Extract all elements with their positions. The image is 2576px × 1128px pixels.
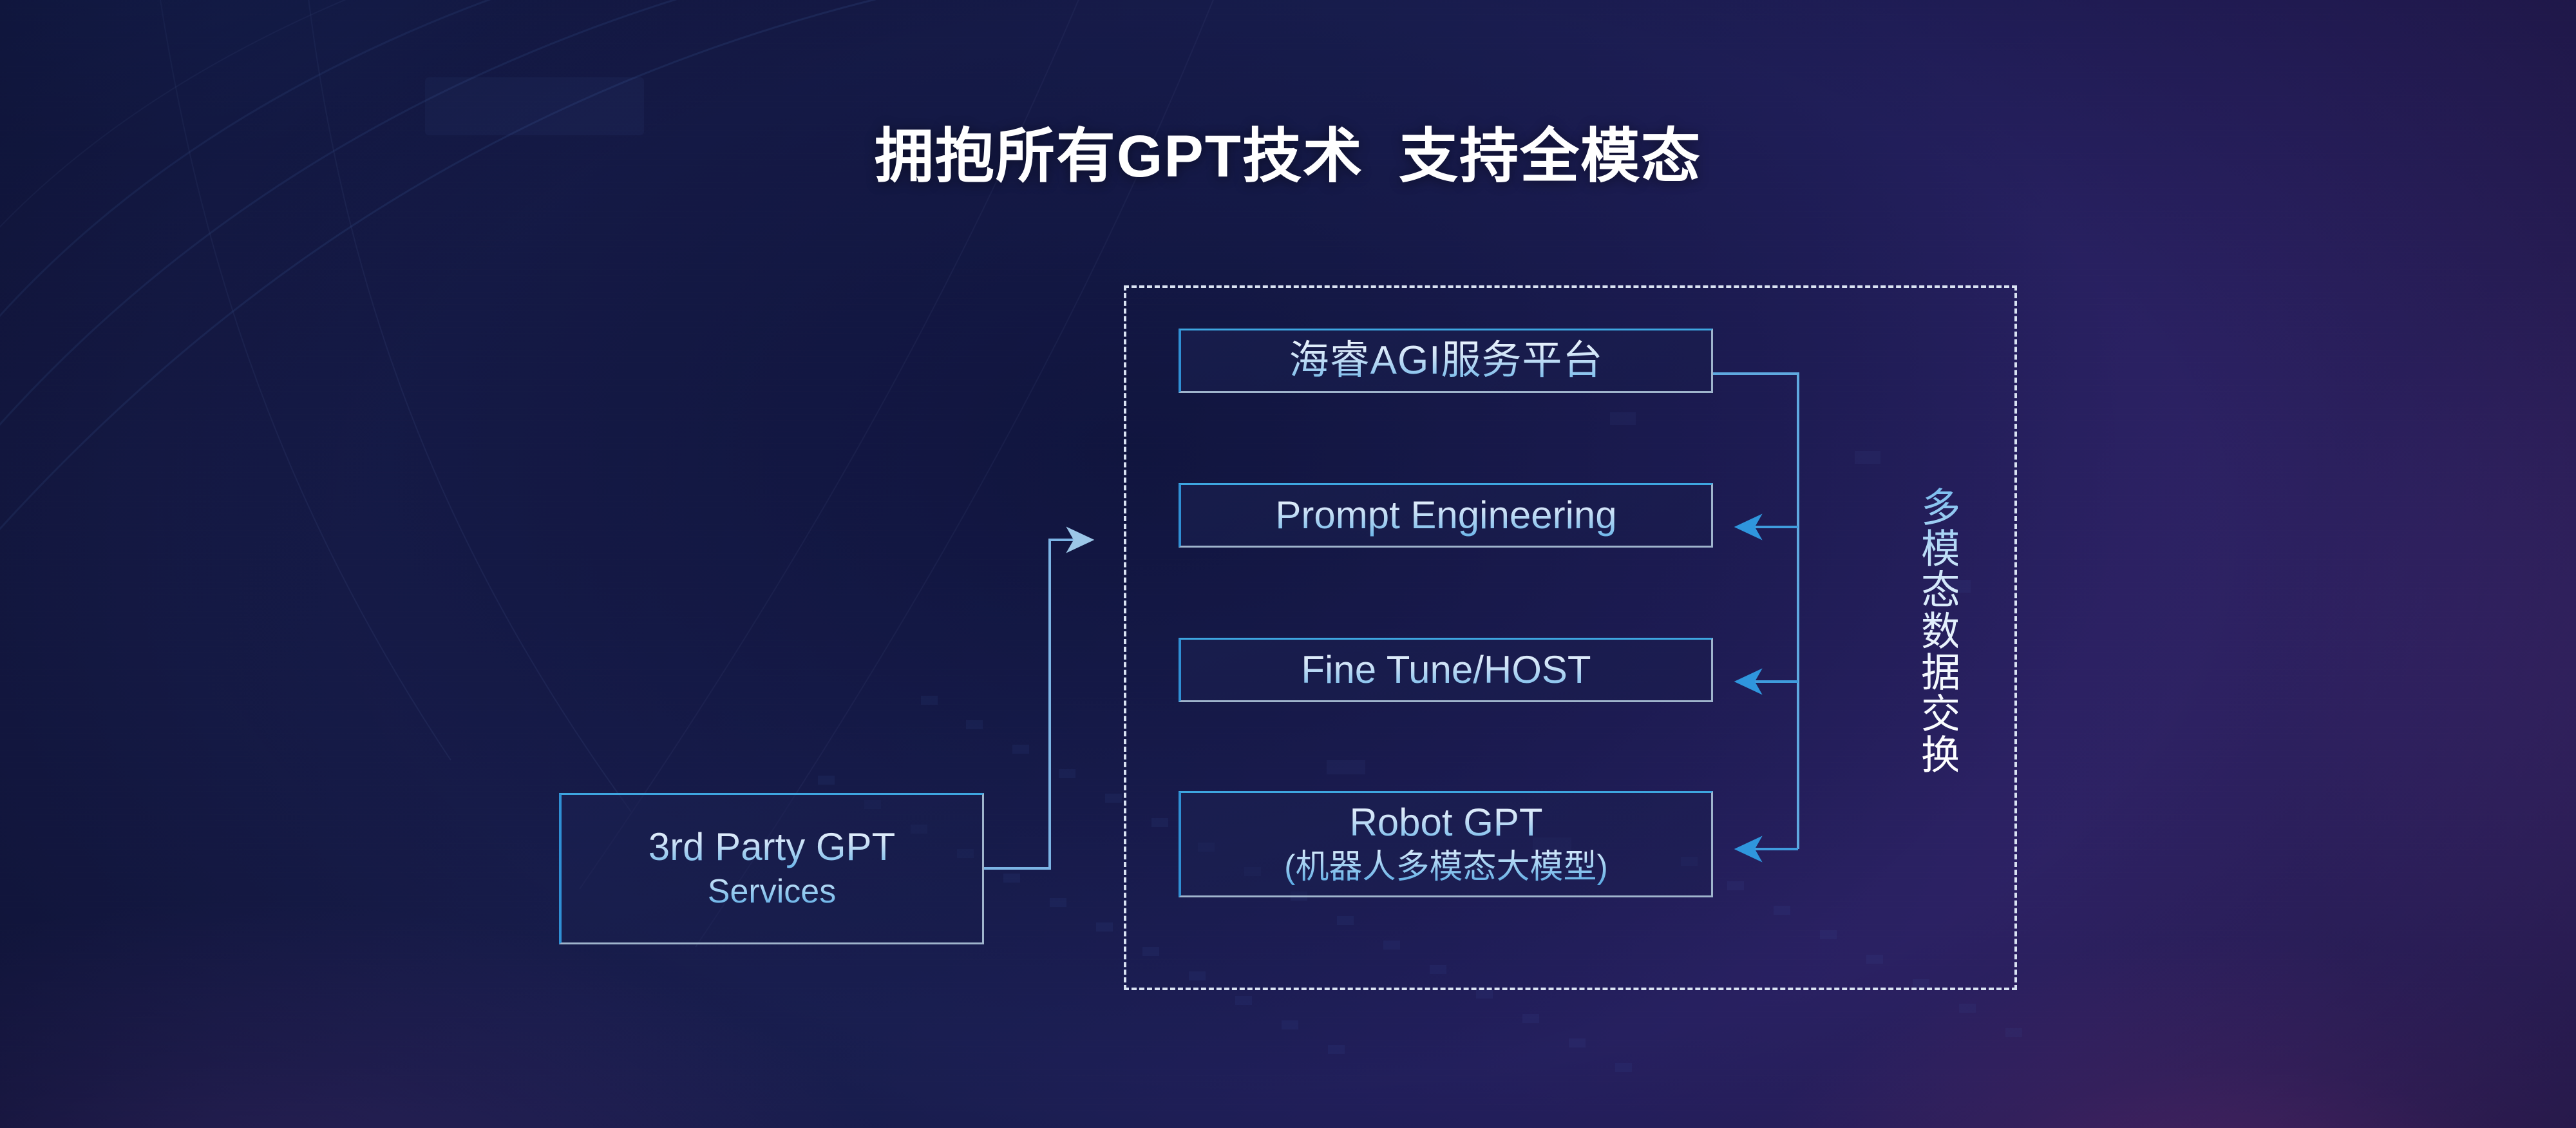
node-label-secondary: (机器人多模态大模型)	[1284, 848, 1608, 887]
node-label-primary: Prompt Engineering	[1275, 493, 1616, 537]
slide-title: 拥抱所有GPT技术 支持全模态	[0, 108, 2576, 194]
connector-third-party-to-platform	[984, 540, 1090, 868]
node-label-primary: 海睿AGI服务平台	[1289, 338, 1604, 383]
node-prompt-engineering[interactable]: Prompt Engineering	[1179, 483, 1713, 548]
slide-canvas: 拥抱所有GPT技术 支持全模态 海睿AGI服务平台 P	[0, 0, 2576, 1128]
node-label-primary: Robot GPT	[1349, 801, 1542, 844]
node-label-primary: 3rd Party GPT	[649, 825, 895, 868]
node-fine-tune-host[interactable]: Fine Tune/HOST	[1179, 638, 1713, 702]
node-haihrui-agi-platform[interactable]: 海睿AGI服务平台	[1179, 329, 1713, 393]
node-third-party-gpt-services[interactable]: 3rd Party GPT Services	[559, 793, 984, 944]
node-robot-gpt[interactable]: Robot GPT (机器人多模态大模型)	[1179, 791, 1713, 897]
node-label-secondary: Services	[708, 872, 836, 912]
vertical-label-multimodal-data-exchange: 多模态数据交换	[1906, 486, 1958, 775]
node-label-primary: Fine Tune/HOST	[1301, 648, 1591, 691]
